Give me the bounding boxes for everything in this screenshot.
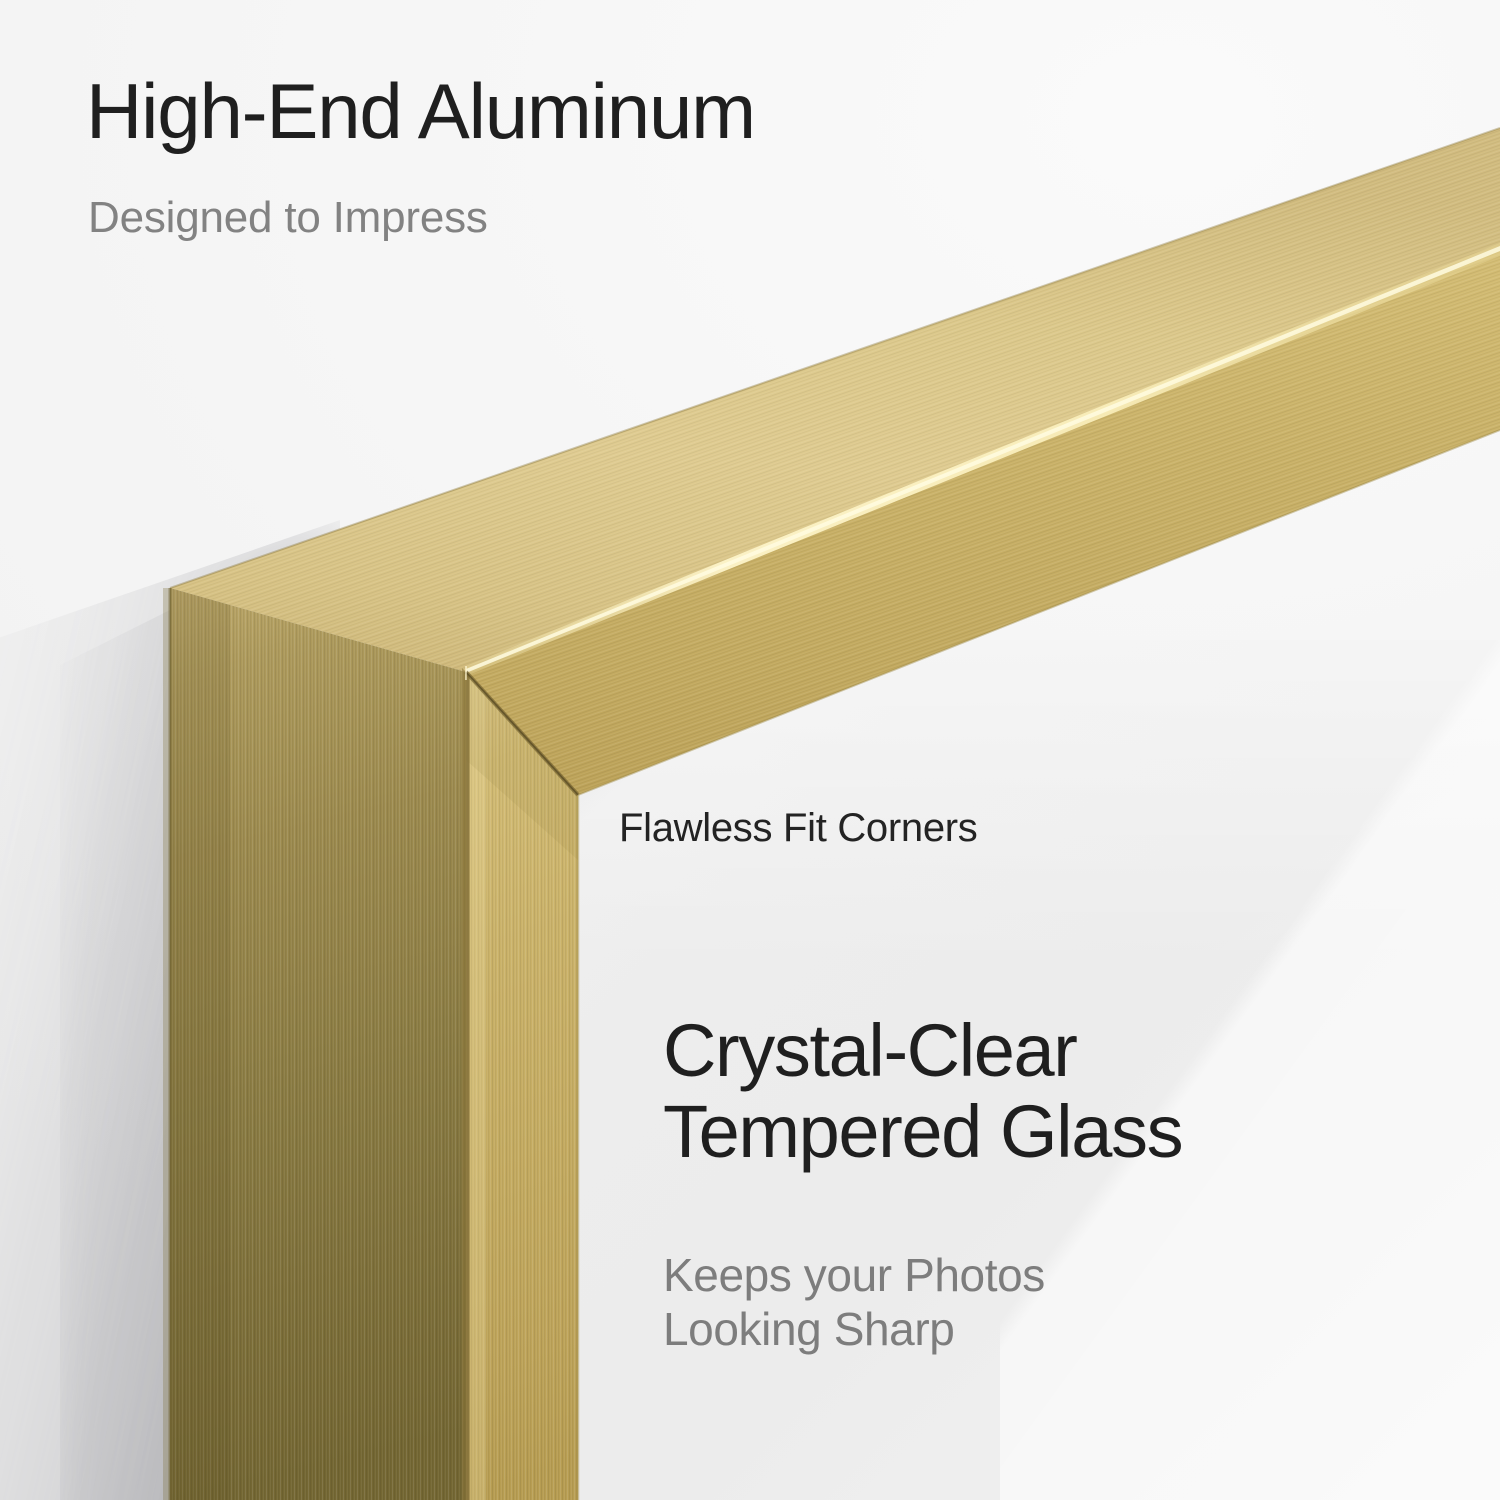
page-title: High-End Aluminum bbox=[86, 72, 755, 150]
page-subtitle: Designed to Impress bbox=[88, 196, 488, 240]
feature-subtitle-tempered-glass: Keeps your Photos Looking Sharp bbox=[663, 1248, 1045, 1357]
feature-title-tempered-glass: Crystal-Clear Tempered Glass bbox=[663, 1010, 1182, 1173]
frame-contact-shadow bbox=[60, 545, 300, 1500]
callout-flawless-fit-corners: Flawless Fit Corners bbox=[619, 808, 978, 848]
product-feature-image: High-End Aluminum Designed to Impress Fl… bbox=[0, 0, 1500, 1500]
